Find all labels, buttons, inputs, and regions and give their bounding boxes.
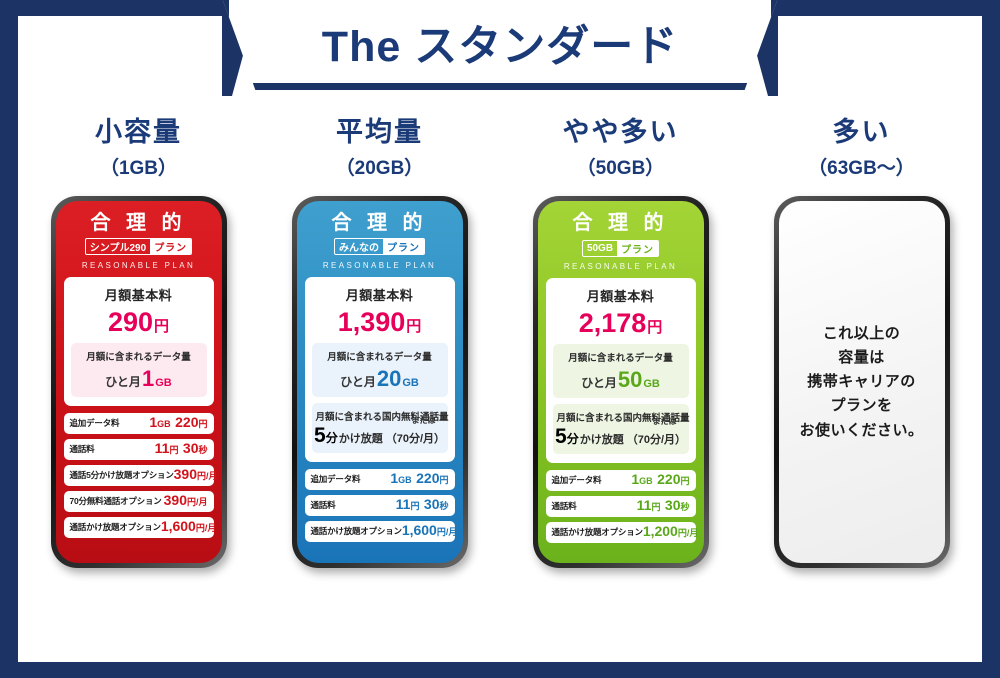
- data-allowance-prefix: ひと月: [340, 375, 376, 389]
- feature-value-sub: 円/月: [197, 471, 218, 481]
- data-allowance-value: ひと月1GB: [75, 368, 203, 390]
- column-title: 多い: [833, 118, 891, 148]
- feature-value-main: 11: [637, 497, 652, 513]
- price-currency: 円: [406, 318, 421, 335]
- message-line: 容量は: [838, 349, 885, 366]
- feature-row-value: 11円 30秒: [396, 497, 449, 513]
- message-line: プランを: [830, 397, 892, 414]
- data-allowance-unit: GB: [402, 377, 419, 389]
- call-allowance-box: 月額に含まれる国内無料通話量または5分かけ放題（70分/月）: [553, 404, 689, 454]
- feature-row-value: 390円/月: [164, 493, 208, 509]
- phone-screen: これ以上の容量は携帯キャリアのプランをお使いください。: [779, 201, 945, 563]
- phone-screen: 合 理 的50GBプランREASONABLE PLAN月額基本料2,178円月額…: [538, 201, 704, 563]
- message-line: お使いください。: [799, 422, 923, 439]
- call-minutes-unit: 分: [326, 429, 338, 446]
- feature-value-sub-2: 円: [680, 476, 689, 486]
- data-allowance-value: ひと月20GB: [316, 368, 444, 390]
- price-amount: 1,390円: [312, 309, 448, 336]
- feature-row: 追加データ料1GB 220円: [546, 470, 696, 491]
- call-monthly-note: （70分/月）: [627, 431, 686, 447]
- brand-logo: 合 理 的50GBプランREASONABLE PLAN: [538, 201, 704, 278]
- feature-value-main-2: 220: [657, 471, 680, 487]
- price-amount: 290円: [71, 309, 207, 336]
- call-unlimited-label: かけ放題: [339, 430, 383, 446]
- brand-tag-left: みんなの: [335, 239, 383, 254]
- feature-value-sub-2: 秒: [680, 502, 689, 512]
- feature-value-main: 11: [155, 440, 170, 456]
- feature-value-main-2: 220: [416, 470, 439, 486]
- price-card: 月額基本料2,178円月額に含まれるデータ量ひと月50GB月額に含まれる国内無料…: [546, 278, 696, 463]
- column-subtitle: （50GB）: [577, 153, 665, 180]
- plan-column: 多い（63GB〜）これ以上の容量は携帯キャリアのプランをお使いください。: [747, 118, 977, 568]
- price-label: 月額基本料: [312, 285, 448, 304]
- data-allowance-amount: 20: [377, 366, 401, 391]
- phone-screen: 合 理 的シンプル290プランREASONABLE PLAN月額基本料290円月…: [56, 201, 222, 563]
- feature-value-sub-2: 円: [198, 419, 207, 429]
- brand-logo: 合 理 的みんなのプランREASONABLE PLAN: [297, 201, 463, 277]
- data-allowance-title: 月額に含まれるデータ量: [75, 349, 203, 363]
- price-number: 2,178: [579, 308, 647, 338]
- plan-column: 平均量（20GB）合 理 的みんなのプランREASONABLE PLAN月額基本…: [265, 118, 495, 568]
- blank-phone-message: これ以上の容量は携帯キャリアのプランをお使いください。: [779, 201, 945, 563]
- feature-value-sub: GB: [639, 476, 653, 486]
- price-currency: 円: [647, 319, 662, 336]
- feature-row: 通話かけ放題オプション1,600円/月: [64, 517, 214, 538]
- feature-value-main-2: 30: [424, 496, 440, 512]
- data-allowance-prefix: ひと月: [581, 376, 617, 390]
- brand-name: 合 理 的: [62, 213, 216, 233]
- price-label: 月額基本料: [553, 286, 689, 305]
- feature-value-sub: GB: [157, 419, 171, 429]
- feature-row-label: 追加データ料: [70, 417, 120, 429]
- feature-row-label: 通話かけ放題オプション: [552, 526, 643, 538]
- brand-tag-right: プラン: [617, 241, 658, 256]
- brand-name: 合 理 的: [303, 213, 457, 233]
- brand-plan-tag: みんなのプラン: [334, 238, 425, 255]
- feature-row: 70分無料通話オプション390円/月: [64, 491, 214, 512]
- price-amount: 2,178円: [553, 310, 689, 337]
- column-subtitle: （20GB）: [336, 153, 424, 180]
- price-label: 月額基本料: [71, 285, 207, 304]
- price-card: 月額基本料1,390円月額に含まれるデータ量ひと月20GB月額に含まれる国内無料…: [305, 277, 455, 462]
- phone-mockup: 合 理 的みんなのプランREASONABLE PLAN月額基本料1,390円月額…: [292, 196, 468, 568]
- brand-tagline: REASONABLE PLAN: [303, 261, 457, 270]
- feature-value-main: 1: [390, 470, 398, 486]
- call-alternative-note: または: [653, 416, 677, 427]
- feature-row: 通話料11円 30秒: [305, 495, 455, 516]
- feature-row-label: 70分無料通話オプション: [70, 495, 162, 507]
- data-allowance-amount: 50: [618, 367, 642, 392]
- price-number: 290: [108, 307, 153, 337]
- feature-value-sub-2: 円: [439, 475, 448, 485]
- phone-mockup: 合 理 的50GBプランREASONABLE PLAN月額基本料2,178円月額…: [533, 196, 709, 568]
- brand-name: 合 理 的: [544, 213, 698, 233]
- plan-column: やや多い（50GB）合 理 的50GBプランREASONABLE PLAN月額基…: [506, 118, 736, 568]
- feature-value-main: 1,600: [402, 522, 437, 538]
- feature-value-main: 1: [149, 414, 157, 430]
- data-allowance-prefix: ひと月: [105, 375, 141, 389]
- brand-plan-tag: 50GBプラン: [582, 240, 659, 257]
- data-allowance-box: 月額に含まれるデータ量ひと月1GB: [71, 343, 207, 397]
- feature-row: 追加データ料1GB 220円: [64, 413, 214, 434]
- feature-row-label: 通話料: [311, 499, 336, 511]
- page-title: The スタンダード: [322, 12, 678, 74]
- feature-row-label: 追加データ料: [311, 473, 361, 485]
- feature-row: 通話かけ放題オプション1,600円/月: [305, 521, 455, 542]
- feature-row-value: 1,600円/月: [161, 519, 217, 535]
- feature-rows: 追加データ料1GB 220円通話料11円 30秒通話5分かけ放題オプション390…: [64, 413, 214, 538]
- feature-row-label: 通話かけ放題オプション: [311, 525, 402, 537]
- phone-screen: 合 理 的みんなのプランREASONABLE PLAN月額基本料1,390円月額…: [297, 201, 463, 563]
- phone-mockup: 合 理 的シンプル290プランREASONABLE PLAN月額基本料290円月…: [51, 196, 227, 568]
- price-card: 月額基本料290円月額に含まれるデータ量ひと月1GB: [64, 277, 214, 406]
- column-title: やや多い: [563, 118, 679, 148]
- column-subtitle: （1GB）: [100, 153, 177, 180]
- feature-row-value: 11円 30秒: [637, 498, 690, 514]
- price-currency: 円: [154, 318, 169, 335]
- message-line: これ以上の: [823, 325, 901, 342]
- brand-tag-right: プラン: [383, 239, 424, 254]
- feature-row-value: 1,200円/月: [643, 524, 699, 540]
- brand-tag-right: プラン: [150, 239, 191, 254]
- call-minutes: 5: [314, 425, 326, 446]
- feature-row-label: 通話5分かけ放題オプション: [70, 469, 174, 481]
- feature-value-main-2: 30: [665, 497, 681, 513]
- feature-value-main: 1,600: [161, 518, 196, 534]
- feature-rows: 追加データ料1GB 220円通話料11円 30秒通話かけ放題オプション1,600…: [305, 469, 455, 542]
- feature-row-value: 390円/月: [174, 467, 218, 483]
- feature-value-sub: 円/月: [196, 523, 217, 533]
- brand-tag-left: シンプル290: [86, 239, 150, 254]
- brand-logo: 合 理 的シンプル290プランREASONABLE PLAN: [56, 201, 222, 277]
- data-allowance-title: 月額に含まれるデータ量: [557, 350, 685, 364]
- data-allowance-unit: GB: [155, 377, 172, 389]
- call-alternative-note: または: [412, 415, 436, 426]
- feature-row: 追加データ料1GB 220円: [305, 469, 455, 490]
- feature-value-main: 11: [396, 496, 411, 512]
- feature-row-label: 追加データ料: [552, 474, 602, 486]
- plan-column: 小容量（1GB）合 理 的シンプル290プランREASONABLE PLAN月額…: [24, 118, 254, 568]
- feature-rows: 追加データ料1GB 220円通話料11円 30秒通話かけ放題オプション1,200…: [546, 470, 696, 543]
- feature-value-sub: 円/月: [437, 527, 458, 537]
- plan-columns: 小容量（1GB）合 理 的シンプル290プランREASONABLE PLAN月額…: [18, 118, 982, 568]
- feature-value-main: 1,200: [643, 523, 678, 539]
- phone-mockup: これ以上の容量は携帯キャリアのプランをお使いください。: [774, 196, 950, 568]
- feature-row: 通話料11円 30秒: [64, 439, 214, 460]
- feature-row: 通話料11円 30秒: [546, 496, 696, 517]
- feature-value-main: 1: [631, 471, 639, 487]
- data-allowance-title: 月額に含まれるデータ量: [316, 349, 444, 363]
- message-line: 携帯キャリアの: [807, 373, 916, 390]
- feature-row-value: 1GB 220円: [631, 472, 689, 488]
- data-allowance-amount: 1: [142, 366, 154, 391]
- brand-tag-left: 50GB: [583, 241, 617, 256]
- feature-value-main: 390: [164, 492, 187, 508]
- data-allowance-box: 月額に含まれるデータ量ひと月20GB: [312, 343, 448, 397]
- feature-row-label: 通話料: [70, 443, 95, 455]
- brand-tagline: REASONABLE PLAN: [62, 261, 216, 270]
- feature-value-sub: GB: [398, 475, 412, 485]
- column-subtitle: （63GB〜）: [808, 153, 915, 180]
- call-allowance-value: または5分かけ放題（70分/月）: [557, 426, 685, 447]
- feature-row: 通話かけ放題オプション1,200円/月: [546, 522, 696, 543]
- feature-row-value: 1,600円/月: [402, 523, 458, 539]
- brand-plan-tag: シンプル290プラン: [85, 238, 192, 255]
- feature-value-sub: 円/月: [678, 528, 699, 538]
- call-allowance-box: 月額に含まれる国内無料通話量または5分かけ放題（70分/月）: [312, 403, 448, 453]
- feature-row-label: 通話かけ放題オプション: [70, 521, 161, 533]
- brand-tagline: REASONABLE PLAN: [544, 262, 698, 271]
- column-title: 平均量: [336, 118, 423, 148]
- feature-row: 通話5分かけ放題オプション390円/月: [64, 465, 214, 486]
- call-monthly-note: （70分/月）: [386, 430, 445, 446]
- feature-value-main: 390: [174, 466, 197, 482]
- title-banner: The スタンダード: [222, 0, 778, 90]
- page-background: The スタンダード 小容量（1GB）合 理 的シンプル290プランREASON…: [0, 0, 1000, 678]
- column-title: 小容量: [95, 118, 182, 148]
- call-allowance-value: または5分かけ放題（70分/月）: [316, 425, 444, 446]
- feature-row-value: 1GB 220円: [149, 415, 207, 431]
- feature-value-sub: 円/月: [187, 497, 208, 507]
- feature-value-main-2: 220: [175, 414, 198, 430]
- feature-row-value: 11円 30秒: [155, 441, 208, 457]
- feature-value-main-2: 30: [183, 440, 199, 456]
- data-allowance-box: 月額に含まれるデータ量ひと月50GB: [553, 344, 689, 398]
- call-unlimited-label: かけ放題: [580, 431, 624, 447]
- feature-value-sub-2: 秒: [439, 501, 448, 511]
- data-allowance-unit: GB: [643, 378, 660, 390]
- feature-value-sub-2: 秒: [198, 445, 207, 455]
- feature-row-value: 1GB 220円: [390, 471, 448, 487]
- call-minutes: 5: [555, 426, 567, 447]
- call-minutes-unit: 分: [567, 430, 579, 447]
- feature-row-label: 通話料: [552, 500, 577, 512]
- data-allowance-value: ひと月50GB: [557, 369, 685, 391]
- price-number: 1,390: [338, 307, 406, 337]
